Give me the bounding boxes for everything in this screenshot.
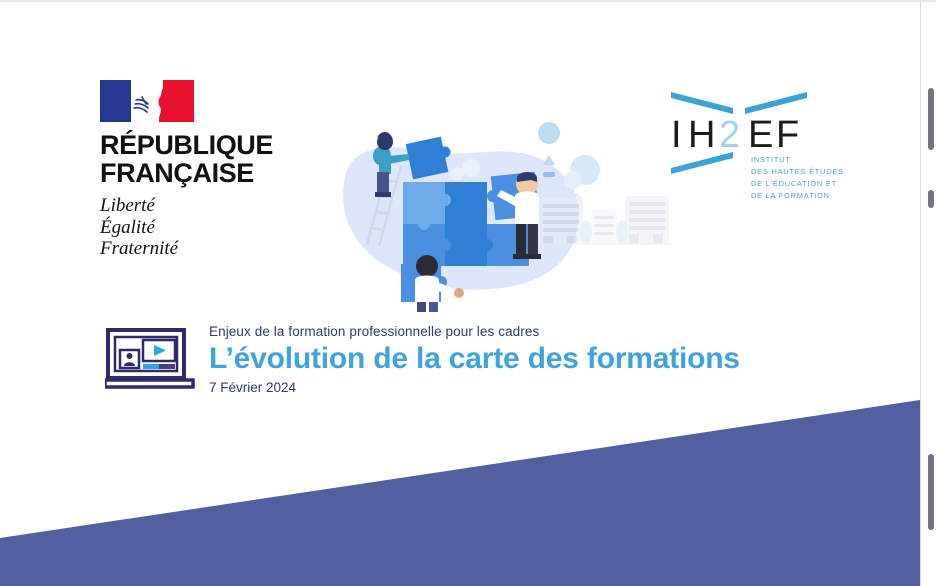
french-flag-marianne-icon bbox=[100, 80, 194, 122]
ihef-wordmark-f: F bbox=[776, 114, 799, 156]
scrollbar-thumb-upper[interactable] bbox=[928, 88, 934, 150]
decor-circle-dot-a bbox=[450, 167, 464, 181]
ihef-tagline-line-3: DE L'ÉDUCATION ET bbox=[751, 179, 837, 188]
slide-date: 7 Février 2024 bbox=[209, 379, 740, 396]
scrollbar-thumb-lower[interactable] bbox=[928, 454, 934, 530]
ihef-wordmark-e: E bbox=[748, 114, 773, 156]
decor-circle-small bbox=[564, 171, 582, 189]
scrollbar-thumb-middle[interactable] bbox=[928, 190, 934, 208]
republique-title: RÉPUBLIQUE FRANÇAISE bbox=[100, 131, 300, 187]
ihef-wordmark-2: 2 bbox=[719, 114, 740, 156]
ihef-tagline-line-4: DE LA FORMATION bbox=[751, 191, 830, 200]
ihef-tagline-line-2: DES HAUTES ÉTUDES bbox=[751, 167, 844, 176]
teamwork-puzzle-illustration bbox=[305, 112, 695, 312]
slide-title: L’évolution de la carte des formations bbox=[209, 342, 740, 376]
republique-francaise-logo: RÉPUBLIQUE FRANÇAISE Liberté Égalité Fra… bbox=[100, 80, 300, 260]
republique-motto: Liberté Égalité Fraternité bbox=[100, 195, 300, 260]
vertical-scrollbar[interactable] bbox=[920, 2, 936, 586]
slide-eyebrow: Enjeux de la formation professionnelle p… bbox=[209, 324, 740, 340]
video-lesson-laptop-icon bbox=[105, 328, 197, 390]
slide-title-block: Enjeux de la formation professionnelle p… bbox=[105, 324, 740, 396]
decor-circle-dot-b bbox=[462, 159, 480, 177]
ihef-tagline-line-1: INSTITUT bbox=[751, 155, 791, 164]
presentation-slide: RÉPUBLIQUE FRANÇAISE Liberté Égalité Fra… bbox=[0, 0, 936, 586]
